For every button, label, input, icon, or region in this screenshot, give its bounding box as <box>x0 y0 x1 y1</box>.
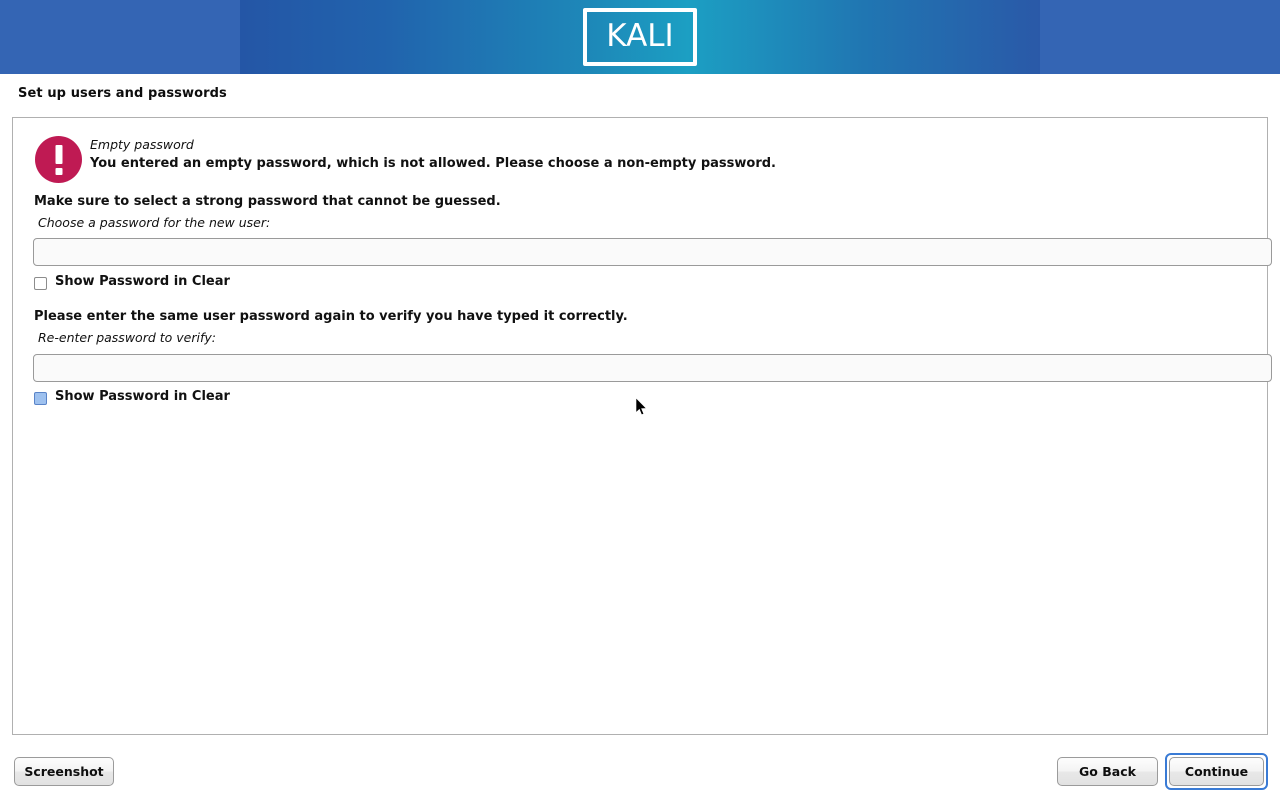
password-field-label: Choose a password for the new user: <box>38 215 270 230</box>
verify-section-heading: Please enter the same user password agai… <box>34 309 628 324</box>
header-banner: KALI <box>0 0 1280 74</box>
error-banner: Empty password You entered an empty pass… <box>22 127 1252 189</box>
continue-button-focus-ring: Continue <box>1165 753 1268 790</box>
password-section-heading: Make sure to select a strong password th… <box>34 194 501 209</box>
verify-field-label: Re-enter password to verify: <box>38 330 216 345</box>
page-title: Set up users and passwords <box>18 86 227 101</box>
screenshot-button[interactable]: Screenshot <box>14 757 114 786</box>
exclamation-bar <box>55 145 62 164</box>
error-exclamation-icon <box>35 136 82 183</box>
kali-logo-text: KALI <box>583 8 697 66</box>
show-password-checkbox-2[interactable] <box>34 392 47 405</box>
password-input[interactable] <box>33 238 1272 266</box>
continue-button[interactable]: Continue <box>1169 757 1264 786</box>
verify-password-input[interactable] <box>33 354 1272 382</box>
go-back-button[interactable]: Go Back <box>1057 757 1158 786</box>
show-password-checkbox-1[interactable] <box>34 277 47 290</box>
show-password-label-1: Show Password in Clear <box>55 274 230 289</box>
show-password-label-2: Show Password in Clear <box>55 389 230 404</box>
installer-window: KALI Set up users and passwords Empty pa… <box>0 0 1280 800</box>
kali-logo: KALI <box>583 8 697 66</box>
error-message: You entered an empty password, which is … <box>90 156 776 171</box>
error-title: Empty password <box>90 137 194 152</box>
content-panel: Empty password You entered an empty pass… <box>12 117 1268 735</box>
exclamation-dot <box>55 168 62 175</box>
